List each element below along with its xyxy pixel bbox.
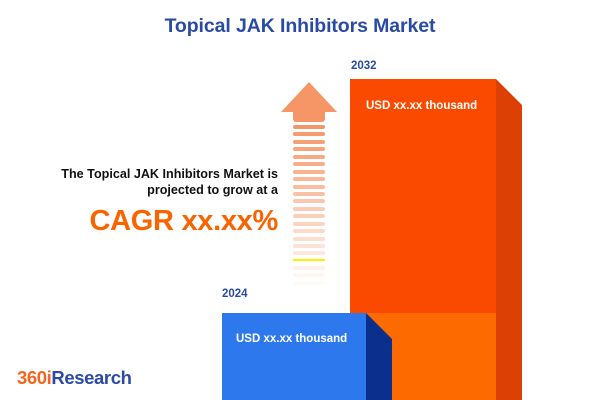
arrow-stripe: [293, 140, 325, 144]
brand-logo[interactable]: 360iResearch: [17, 367, 132, 389]
year-label-2032: 2032: [351, 60, 377, 72]
bar-2024-value-label: USD xx.xx thousand: [236, 333, 347, 345]
cagr-callout: The Topical JAK Inhibitors Market is pro…: [6, 166, 278, 238]
year-label-2024: 2024: [222, 288, 248, 300]
arrow-stripe: [293, 207, 325, 211]
arrow-stripe: [293, 199, 325, 203]
brand-logo-prefix: 360i: [17, 367, 51, 388]
cagr-lead-line-1: The Topical JAK Inhibitors Market is: [6, 166, 278, 182]
arrow-stripe: [293, 237, 325, 241]
arrow-stripe: [293, 281, 325, 285]
growth-arrow-icon: [281, 82, 337, 297]
arrow-stripe-stack: [293, 125, 325, 297]
arrow-stripe: [293, 185, 325, 189]
bar-2032-side-face: [496, 79, 522, 400]
arrow-stripe: [293, 192, 325, 196]
arrow-stripe: [293, 229, 325, 233]
arrow-progress-marker: [293, 259, 325, 261]
arrow-shaft-top: [293, 112, 325, 122]
arrow-up-icon: [281, 82, 337, 116]
arrow-stripe: [293, 162, 325, 166]
arrow-stripe: [293, 222, 325, 226]
arrow-stripe: [293, 251, 325, 255]
brand-logo-suffix: Research: [51, 367, 131, 388]
arrow-stripe: [293, 155, 325, 159]
infographic-canvas: Topical JAK Inhibitors Market 2032 USD x…: [0, 0, 600, 400]
arrow-stripe: [293, 214, 325, 218]
arrow-stripe: [293, 177, 325, 181]
arrow-stripe: [293, 147, 325, 151]
arrow-stripe: [293, 266, 325, 270]
arrow-stripe: [293, 244, 325, 248]
bar-2024-side-face: [366, 313, 392, 400]
cagr-lead-line-2: projected to grow at a: [6, 182, 278, 198]
bar-2024[interactable]: USD xx.xx thousand: [222, 313, 392, 400]
bar-2032-front-upper: [350, 79, 496, 313]
arrow-stripe: [293, 132, 325, 136]
cagr-value: CAGR xx.xx%: [6, 205, 278, 238]
bar-2032-value-label: USD xx.xx thousand: [366, 100, 477, 112]
arrow-stripe: [293, 125, 325, 129]
bar-2024-front-face: [222, 313, 366, 400]
arrow-stripe: [293, 170, 325, 174]
arrow-stripe: [293, 273, 325, 277]
